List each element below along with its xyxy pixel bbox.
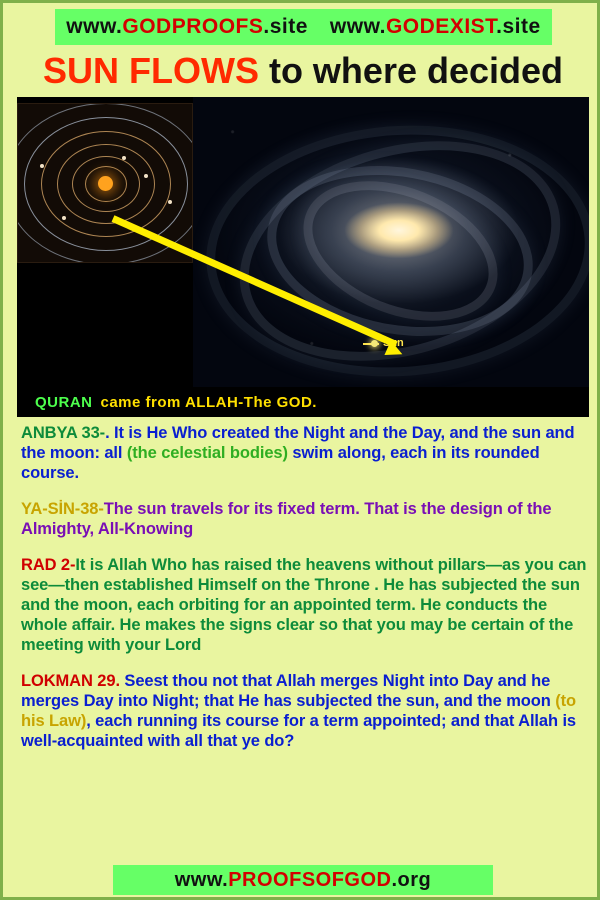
site-link-proofsofgod-tld: .org bbox=[392, 869, 432, 891]
site-link-proofsofgod-name: PROOFSOFGOD bbox=[228, 869, 391, 891]
caption-text: came from ALLAH-The GOD. bbox=[101, 394, 317, 411]
bottom-banner: www.PROOFSOFGOD.org bbox=[113, 865, 493, 895]
poster: www.GODPROOFS.site www.GODEXIST.site SUN… bbox=[0, 0, 600, 900]
site-link-godexist-www: www. bbox=[330, 15, 386, 38]
top-banner: www.GODPROOFS.site www.GODEXIST.site bbox=[55, 9, 552, 45]
verse-yasin-38: YA-SİN-38-The sun travels for its fixed … bbox=[21, 499, 587, 539]
verse-reference: LOKMAN 29. bbox=[21, 672, 120, 690]
caption-quran-word: QURAN bbox=[35, 394, 93, 411]
verse-lokman-29: LOKMAN 29. Seest thou not that Allah mer… bbox=[21, 671, 587, 751]
site-link-godexist-tld: .site bbox=[496, 15, 541, 38]
verse-list: ANBYA 33-. It is He Who created the Nigh… bbox=[21, 423, 587, 767]
site-link-godproofs-www: www. bbox=[66, 15, 122, 38]
verse-text-part: , each running its course for a term app… bbox=[21, 712, 576, 750]
verse-text-part: It is Allah Who has raised the heavens w… bbox=[21, 556, 586, 654]
headline-primary: SUN FLOWS bbox=[43, 50, 259, 92]
image-area: Sun bbox=[17, 97, 589, 387]
planet-dot bbox=[40, 164, 44, 168]
site-link-godexist[interactable]: www.GODEXIST.site bbox=[330, 15, 541, 39]
site-link-godproofs[interactable]: www.GODPROOFS.site bbox=[66, 15, 308, 39]
planet-dot bbox=[144, 174, 148, 178]
site-link-proofsofgod-www: www. bbox=[175, 869, 228, 891]
planet-dot bbox=[62, 216, 66, 220]
verse-text-highlight: (the celestial bodies) bbox=[127, 444, 288, 462]
site-link-godexist-name: GODEXIST bbox=[386, 15, 496, 38]
verse-reference: RAD 2- bbox=[21, 556, 75, 574]
quran-caption-bar: QURAN came from ALLAH-The GOD. bbox=[17, 387, 589, 417]
headline-secondary: to where decided bbox=[269, 50, 563, 92]
inset-sun-icon bbox=[98, 176, 113, 191]
site-link-godproofs-tld: .site bbox=[263, 15, 308, 38]
site-link-proofsofgod[interactable]: www.PROOFSOFGOD.org bbox=[175, 869, 432, 892]
planet-dot bbox=[168, 200, 172, 204]
verse-rad-2: RAD 2-It is Allah Who has raised the hea… bbox=[21, 555, 587, 655]
verse-anbya-33: ANBYA 33-. It is He Who created the Nigh… bbox=[21, 423, 587, 483]
verse-reference: YA-SİN-38- bbox=[21, 500, 104, 518]
headline: SUN FLOWS to where decided bbox=[3, 47, 600, 95]
sun-marker-dot bbox=[371, 340, 378, 347]
site-link-godproofs-name: GODPROOFS bbox=[122, 15, 263, 38]
verse-reference: ANBYA 33- bbox=[21, 424, 105, 442]
planet-dot bbox=[122, 156, 126, 160]
